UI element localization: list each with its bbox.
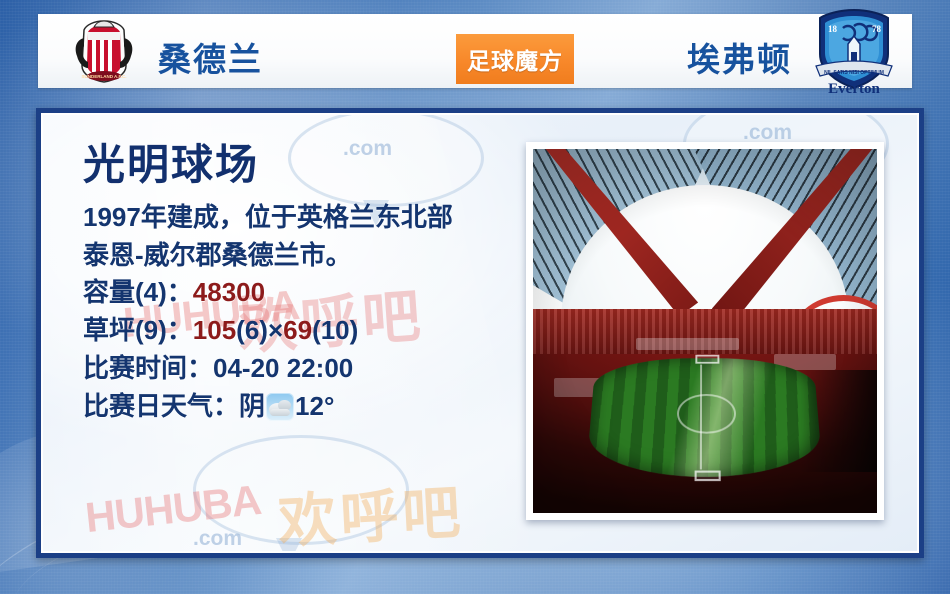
cloudy-icon (266, 393, 294, 421)
pitch-length: 105 (193, 315, 236, 345)
svg-text:NIL SATIS NISI OPTIMUM: NIL SATIS NISI OPTIMUM (824, 70, 884, 76)
weather-row: 比赛日天气：阴 12° (83, 388, 503, 426)
svg-text:Everton: Everton (828, 81, 880, 96)
match-header-bar: SUNDERLAND A.F.C. 桑德兰 足球魔方 埃弗顿 18 78 N (38, 14, 912, 88)
cloud-base (270, 409, 290, 416)
stadium-photo-frame (526, 142, 884, 520)
weather-temperature: 12° (295, 391, 334, 421)
svg-text:SUNDERLAND A.F.C.: SUNDERLAND A.F.C. (81, 74, 126, 79)
capacity-value: 48300 (193, 277, 265, 307)
away-team-name: 埃弗顿 (687, 33, 792, 81)
svg-text:78: 78 (872, 24, 882, 34)
weather-label: 比赛日天气： (83, 391, 239, 421)
pitch-size-row: 草坪(9)：105(6)×69(10) (83, 312, 503, 350)
capacity-label: 容量(4)： (83, 277, 193, 307)
pitch-label: 草坪(9)： (83, 315, 193, 345)
match-stadium-infographic: SUNDERLAND A.F.C. 桑德兰 足球魔方 埃弗顿 18 78 N (0, 0, 950, 594)
description-line-1: 1997年建成，位于英格兰东北部 (83, 199, 503, 237)
pitch-width: 69 (283, 315, 312, 345)
card-inner-surface: .com .com HUHUBA HUHUBA HUHUBA Huan .com… (41, 113, 919, 553)
capacity-row: 容量(4)：48300 (83, 274, 503, 312)
stadium-info-text: 光明球场 1997年建成，位于英格兰东北部 泰恩-威尔郡桑德兰市。 容量(4)：… (83, 143, 503, 425)
pitch-times-sign: × (268, 315, 283, 345)
match-time-value: 04-20 22:00 (213, 353, 353, 383)
pitch-length-rank: (6) (236, 315, 268, 345)
brand-logo-text: 足球魔方 (467, 42, 563, 76)
everton-crest: 18 78 NIL SATIS NISI OPTIMUM Everton (806, 8, 902, 96)
photo-vignette (533, 149, 877, 513)
weather-condition: 阴 (239, 391, 265, 421)
stadium-photo (533, 149, 877, 513)
pitch-width-rank: (10) (312, 315, 358, 345)
sunderland-crest: SUNDERLAND A.F.C. (64, 18, 144, 84)
stadium-info-card: .com .com HUHUBA HUHUBA HUHUBA Huan .com… (36, 108, 924, 558)
match-time-row: 比赛时间：04-20 22:00 (83, 350, 503, 388)
brand-logo-badge[interactable]: 足球魔方 (456, 34, 574, 84)
page-title: 光明球场 (83, 143, 503, 187)
description-line-2: 泰恩-威尔郡桑德兰市。 (83, 237, 503, 275)
svg-text:18: 18 (828, 24, 838, 34)
match-time-label: 比赛时间： (83, 353, 213, 383)
home-team-name: 桑德兰 (158, 33, 263, 81)
